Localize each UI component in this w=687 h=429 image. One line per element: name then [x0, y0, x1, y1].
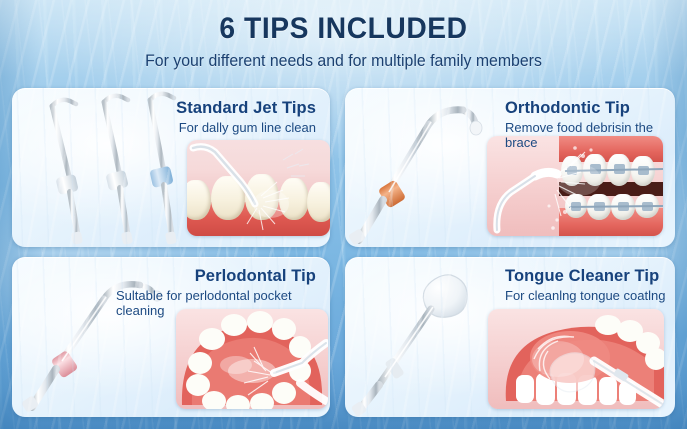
- card-tongue-cleaner-tip[interactable]: Tongue Cleaner Tip For cleanlng tongue c…: [345, 257, 675, 417]
- card-text-orthodontic-tip: Orthodontic Tip Remove food debrisin the…: [505, 99, 675, 150]
- card-title: Standard Jet Tips: [116, 99, 316, 118]
- card-orthodontic-tip[interactable]: Orthodontic Tip Remove food debrisin the…: [345, 88, 675, 247]
- header: 6 TIPS INCLUDED For your different needs…: [0, 12, 687, 71]
- braces-wand: [497, 172, 557, 230]
- orthodontic-tip-illustration: [345, 88, 495, 247]
- card-text-periodontal-tip: Perlodontal Tip Sultable for perlodontal…: [116, 267, 316, 318]
- card-subtitle: Remove food debrisin the brace: [505, 120, 675, 150]
- photo-braces-cleaning: [487, 136, 663, 236]
- card-text-tongue-cleaner-tip: Tongue Cleaner Tip For cleanlng tongue c…: [505, 267, 675, 303]
- tongue-cleaner-tip-illustration: [345, 257, 495, 417]
- page-subtitle: For your different needs and for multipl…: [14, 51, 674, 71]
- poster: 6 TIPS INCLUDED For your different needs…: [0, 0, 687, 429]
- card-subtitle: Sultable for perlodontal pocket cleaning: [116, 288, 316, 318]
- jet-tip-1: [52, 100, 83, 245]
- card-subtitle: For dally gum line clean: [116, 120, 316, 135]
- photo-tongue-cleaning: [488, 309, 664, 409]
- photo-periodontal-pocket-cleaning: [176, 309, 328, 409]
- card-title: Perlodontal Tip: [116, 267, 316, 286]
- card-subtitle: For cleanlng tongue coatlng: [505, 288, 675, 303]
- card-title: Orthodontic Tip: [505, 99, 675, 118]
- orthodontic-wand: [348, 110, 482, 246]
- card-text-standard-jet-tips: Standard Jet Tips For dally gum line cle…: [116, 99, 316, 135]
- card-standard-jet-tips[interactable]: Standard Jet Tips For dally gum line cle…: [12, 88, 330, 247]
- tongue-cleaner-wand: [351, 275, 468, 417]
- page-title: 6 TIPS INCLUDED: [21, 12, 667, 46]
- card-periodontal-tip[interactable]: Perlodontal Tip Sultable for perlodontal…: [12, 257, 330, 417]
- card-title: Tongue Cleaner Tip: [505, 267, 675, 286]
- photo-gum-line-clean: [187, 140, 330, 236]
